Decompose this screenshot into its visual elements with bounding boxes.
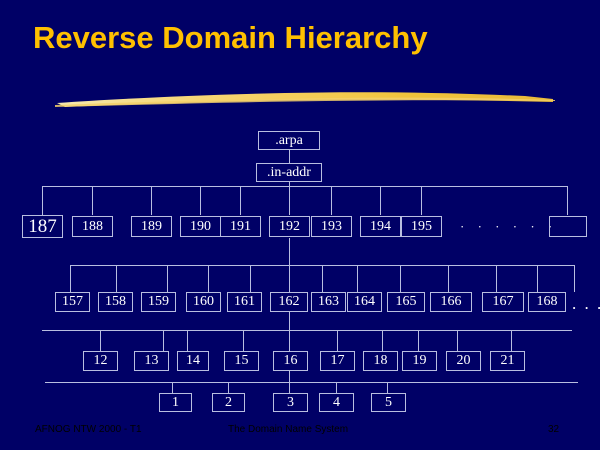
drop-level4-4 (336, 382, 337, 393)
node-level3-18[interactable]: 18 (363, 351, 398, 371)
node-level1-192[interactable]: 192 (269, 216, 310, 237)
drop-level3-8 (418, 330, 419, 351)
node-level2-163[interactable]: 163 (311, 292, 346, 312)
slide-canvas: Reverse Domain Hierarchy .arpa .in-addr (0, 0, 600, 450)
node-level1-194[interactable]: 194 (360, 216, 401, 237)
node-level4-2[interactable]: 2 (212, 393, 245, 412)
node-level2-168[interactable]: 168 (528, 292, 566, 312)
drop-level4-5 (387, 382, 388, 393)
brush-stroke-decoration (55, 88, 555, 110)
ellipsis-level1: · · · · · · (460, 219, 557, 235)
node-level1-189[interactable]: 189 (131, 216, 172, 237)
drop-level1-3 (151, 186, 152, 215)
drop-level2-6 (289, 265, 290, 292)
drop-level2-3 (167, 265, 168, 292)
ellipsis-level2: . . . (572, 294, 600, 314)
node-level3-17[interactable]: 17 (320, 351, 355, 371)
drop-level1-empty (567, 186, 568, 215)
node-level2-161[interactable]: 161 (227, 292, 262, 312)
node-level3-20[interactable]: 20 (446, 351, 481, 371)
page-title: Reverse Domain Hierarchy (33, 20, 428, 56)
drop-level1-1 (42, 186, 43, 215)
connector-192-to-bus2 (289, 238, 290, 265)
node-level3-14[interactable]: 14 (177, 351, 209, 371)
node-level4-1[interactable]: 1 (159, 393, 192, 412)
drop-level1-9 (421, 186, 422, 215)
connector-162-to-bus3 (289, 312, 290, 330)
node-arpa[interactable]: .arpa (258, 131, 320, 150)
node-level3-19[interactable]: 19 (402, 351, 437, 371)
node-level2-158[interactable]: 158 (98, 292, 133, 312)
drop-level3-6 (337, 330, 338, 351)
drop-level4-2 (228, 382, 229, 393)
drop-level1-4 (200, 186, 201, 215)
drop-level3-9 (457, 330, 458, 351)
node-level2-160[interactable]: 160 (186, 292, 221, 312)
node-level3-12[interactable]: 12 (83, 351, 118, 371)
node-level3-15[interactable]: 15 (224, 351, 259, 371)
node-level1-191[interactable]: 191 (220, 216, 261, 237)
node-level1-188[interactable]: 188 (72, 216, 113, 237)
drop-level2-11 (496, 265, 497, 292)
node-level2-165[interactable]: 165 (387, 292, 425, 312)
drop-level3-4 (243, 330, 244, 351)
drop-level2-12 (537, 265, 538, 292)
drop-level4-1 (172, 382, 173, 393)
node-level2-159[interactable]: 159 (141, 292, 176, 312)
node-level4-3[interactable]: 3 (273, 393, 308, 412)
drop-level3-5 (289, 330, 290, 351)
drop-level2-end (574, 265, 575, 292)
node-level3-16[interactable]: 16 (273, 351, 308, 371)
drop-level1-6 (289, 186, 290, 215)
node-level3-13[interactable]: 13 (134, 351, 169, 371)
drop-level2-7 (322, 265, 323, 292)
drop-level3-7 (382, 330, 383, 351)
footer-page-number: 32 (548, 424, 559, 435)
footer-center-text: The Domain Name System (228, 424, 348, 435)
drop-level2-2 (116, 265, 117, 292)
drop-level2-8 (357, 265, 358, 292)
bus-line-level3 (42, 330, 572, 331)
drop-level1-8 (380, 186, 381, 215)
drop-level3-3 (187, 330, 188, 351)
drop-level2-9 (400, 265, 401, 292)
node-level4-4[interactable]: 4 (319, 393, 354, 412)
drop-level3-10 (511, 330, 512, 351)
node-level2-164[interactable]: 164 (347, 292, 382, 312)
drop-level2-5 (250, 265, 251, 292)
connector-16-to-bus4 (289, 371, 290, 382)
node-level2-162[interactable]: 162 (270, 292, 308, 312)
drop-level2-1 (70, 265, 71, 292)
drop-level2-10 (448, 265, 449, 292)
node-level2-167[interactable]: 167 (482, 292, 524, 312)
bus-line-level1 (42, 186, 567, 187)
node-level1-187[interactable]: 187 (22, 215, 63, 238)
drop-level3-2 (163, 330, 164, 351)
node-level2-166[interactable]: 166 (430, 292, 472, 312)
drop-level1-2 (92, 186, 93, 215)
node-level3-21[interactable]: 21 (490, 351, 525, 371)
connector-arpa-to-inaddr (289, 150, 290, 163)
drop-level3-1 (100, 330, 101, 351)
drop-level2-4 (208, 265, 209, 292)
node-level1-193[interactable]: 193 (311, 216, 352, 237)
drop-level1-5 (240, 186, 241, 215)
node-level1-empty[interactable] (549, 216, 587, 237)
node-level4-5[interactable]: 5 (371, 393, 406, 412)
footer-left-text: AFNOG NTW 2000 - T1 (35, 424, 142, 435)
drop-level4-3 (289, 382, 290, 393)
node-level1-195[interactable]: 195 (401, 216, 442, 237)
node-level2-157[interactable]: 157 (55, 292, 90, 312)
drop-level1-7 (331, 186, 332, 215)
node-in-addr[interactable]: .in-addr (256, 163, 322, 182)
bus-line-level4 (45, 382, 578, 383)
node-level1-190[interactable]: 190 (180, 216, 221, 237)
